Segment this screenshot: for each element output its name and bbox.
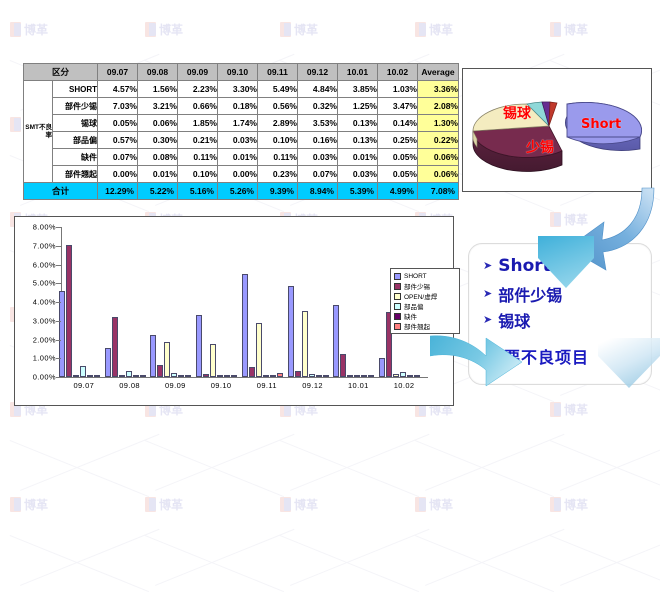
chart-y-tick-label: 6.00% — [33, 260, 56, 269]
table-cell: 0.10% — [178, 166, 218, 183]
chart-y-tick — [56, 265, 61, 266]
chart-y-tick — [56, 227, 61, 228]
chart-y-tick — [56, 340, 61, 341]
chart-bar — [164, 342, 170, 377]
callout-bullet-label: 部件少锡 — [498, 282, 562, 306]
table-cell: 0.13% — [338, 132, 378, 149]
pie-label-short: Short — [581, 117, 621, 132]
table-total-average: 7.08% — [418, 183, 459, 200]
callout-bullet: ➤部件少锡 — [483, 282, 562, 306]
chart-bar — [400, 372, 406, 377]
chart-bar — [323, 375, 329, 377]
watermark-text: 博革 — [564, 499, 588, 511]
chart-bar — [263, 375, 269, 377]
table-cell-average: 3.36% — [418, 81, 459, 98]
table-cell: 0.01% — [338, 149, 378, 166]
table-row: 缺件0.07%0.08%0.11%0.01%0.11%0.03%0.01%0.0… — [24, 149, 459, 166]
watermark-hairline — [290, 529, 429, 586]
table-cell: 3.47% — [378, 98, 418, 115]
watermark: 博革 — [10, 497, 48, 512]
chart-bar — [309, 374, 315, 377]
watermark-hairline — [10, 535, 149, 592]
table-cell: 0.56% — [258, 98, 298, 115]
callout-bullet: ➤Short — [483, 256, 551, 276]
table-row-label: 锡球 — [53, 115, 98, 132]
legend-swatch-icon — [394, 283, 401, 290]
chart-bar — [150, 335, 156, 377]
table-cell-average: 2.08% — [418, 98, 459, 115]
table-row: SMT不良率SHORT4.57%1.56%2.23%3.30%5.49%4.84… — [24, 81, 459, 98]
chart-y-tick-label: 7.00% — [33, 241, 56, 250]
legend-label: 部件少锡 — [404, 281, 430, 291]
table-row: 部件少锡7.03%3.21%0.66%0.18%0.56%0.32%1.25%3… — [24, 98, 459, 115]
chart-bar-group — [196, 227, 237, 377]
table-row-label: 缺件 — [53, 149, 98, 166]
pie-chart-panel: Short 少锡 锡球 — [462, 68, 652, 192]
watermark-hairline — [560, 434, 660, 491]
table-cell-average: 0.06% — [418, 149, 459, 166]
chart-bar — [231, 375, 237, 377]
table-cell: 2.23% — [178, 81, 218, 98]
table-total-cell: 12.29% — [98, 183, 138, 200]
chart-bar-group — [150, 227, 191, 377]
legend-swatch-icon — [394, 313, 401, 320]
table-cell: 3.30% — [218, 81, 258, 98]
table-col-header: 09.10 — [218, 64, 258, 81]
chart-bar — [133, 375, 139, 377]
watermark-hairline — [280, 440, 419, 497]
watermark-text: 博革 — [159, 24, 183, 36]
legend-item: 缺件 — [394, 311, 456, 321]
table-cell: 2.89% — [258, 115, 298, 132]
table-cell: 0.11% — [258, 149, 298, 166]
chart-bar — [126, 371, 132, 377]
table-total-cell: 5.16% — [178, 183, 218, 200]
chart-bar — [277, 373, 283, 377]
chart-bar-group — [59, 227, 100, 377]
defect-rate-table: 区分 09.0709.0809.0909.1009.1109.1210.0110… — [23, 63, 459, 200]
table-cell: 0.07% — [98, 149, 138, 166]
watermark-text: 博革 — [429, 499, 453, 511]
watermark: 博革 — [10, 22, 48, 37]
chart-bar — [407, 375, 413, 377]
chart-bar — [196, 315, 202, 377]
chevron-right-icon: ➤ — [483, 261, 492, 272]
watermark-text: 博革 — [564, 404, 588, 416]
table-cell: 0.13% — [338, 115, 378, 132]
legend-item: OPEN/虚焊 — [394, 291, 456, 301]
legend-label: OPEN/虚焊 — [404, 291, 437, 301]
table-cell: 0.23% — [258, 166, 298, 183]
chart-x-tick-label: 10.01 — [348, 381, 369, 390]
table-cell: 0.05% — [98, 115, 138, 132]
watermark: 博革 — [415, 497, 453, 512]
table-cell: 0.30% — [138, 132, 178, 149]
callout-bullet-label: Short — [498, 256, 551, 276]
table-body: SMT不良率SHORT4.57%1.56%2.23%3.30%5.49%4.84… — [24, 81, 459, 200]
bg-logo-icon — [10, 117, 21, 132]
chart-bar — [249, 367, 255, 378]
legend-item: 部件少锡 — [394, 281, 456, 291]
chart-bar — [393, 374, 399, 377]
chart-x-tick-label: 09.09 — [165, 381, 186, 390]
table-cell: 0.14% — [378, 115, 418, 132]
pie-label-shaoxi: 少锡 — [526, 137, 554, 157]
watermark-text: 博革 — [429, 24, 453, 36]
chart-y-tick-label: 5.00% — [33, 279, 56, 288]
table-cell: 0.01% — [138, 166, 178, 183]
chart-bar — [87, 375, 93, 377]
chart-bar — [178, 375, 184, 377]
table-col-header: 09.09 — [178, 64, 218, 81]
chart-bar — [224, 375, 230, 377]
bg-logo-icon — [550, 402, 561, 417]
chart-bar — [368, 375, 374, 377]
table-cell: 3.21% — [138, 98, 178, 115]
table-total-cell: 9.39% — [258, 183, 298, 200]
table-cell: 0.01% — [218, 149, 258, 166]
chart-bar — [185, 375, 191, 377]
table-cell-average: 0.06% — [418, 166, 459, 183]
watermark-text: 博革 — [24, 499, 48, 511]
chart-bar — [119, 375, 125, 377]
table-cell: 0.05% — [378, 166, 418, 183]
callout-bullet-label: 锡球 — [498, 308, 530, 332]
table-cell: 0.18% — [218, 98, 258, 115]
table-cell: 0.57% — [98, 132, 138, 149]
watermark-hairline — [425, 434, 564, 491]
table-cell: 1.74% — [218, 115, 258, 132]
chart-bar — [210, 344, 216, 377]
chart-bar — [288, 286, 294, 377]
watermark: 博革 — [550, 212, 588, 227]
bg-logo-icon — [145, 22, 156, 37]
chevron-right-icon: ➤ — [483, 315, 492, 326]
legend-label: 缺件 — [404, 311, 417, 321]
chart-bar — [73, 375, 79, 377]
table-cell: 4.84% — [298, 81, 338, 98]
watermark-text: 博革 — [294, 24, 318, 36]
chart-bar — [157, 365, 163, 377]
table-col-header: 09.11 — [258, 64, 298, 81]
legend-label: SHORT — [404, 273, 427, 280]
table-cell: 0.03% — [338, 166, 378, 183]
chart-y-tick-label: 3.00% — [33, 316, 56, 325]
watermark: 博革 — [415, 22, 453, 37]
chart-x-tick-label: 09.10 — [211, 381, 232, 390]
chart-bar — [171, 373, 177, 377]
chart-bar — [80, 366, 86, 377]
watermark-text: 博革 — [294, 499, 318, 511]
table-col-header: 09.12 — [298, 64, 338, 81]
chart-bar — [270, 375, 276, 377]
chart-y-tick-label: 8.00% — [33, 223, 56, 232]
legend-swatch-icon — [394, 323, 401, 330]
watermark: 博革 — [280, 22, 318, 37]
table-cell: 0.16% — [298, 132, 338, 149]
watermark-hairline — [415, 440, 554, 497]
chart-x-tick-label: 09.07 — [73, 381, 94, 390]
chart-bar — [217, 375, 223, 377]
chart-x-tick-label: 09.11 — [257, 381, 277, 390]
chart-bar — [379, 358, 385, 377]
watermark-hairline — [290, 434, 429, 491]
chart-bar — [94, 375, 100, 377]
legend-swatch-icon — [394, 273, 401, 280]
chart-y-tick — [56, 321, 61, 322]
chart-bar — [316, 375, 322, 377]
pie-chart-graphic — [463, 69, 651, 191]
chart-bar — [112, 317, 118, 377]
table-cell: 1.56% — [138, 81, 178, 98]
legend-item: 部件翘起 — [394, 321, 456, 331]
bg-logo-icon — [280, 497, 291, 512]
chart-bar-group — [105, 227, 146, 377]
callout-conclusion: 主要不良项目 — [487, 344, 589, 368]
table-cell: 0.05% — [378, 149, 418, 166]
watermark-text: 博革 — [24, 24, 48, 36]
watermark: 博革 — [145, 497, 183, 512]
watermark-text: 博革 — [159, 499, 183, 511]
watermark-hairline — [20, 529, 159, 586]
chevron-right-icon: ➤ — [483, 289, 492, 300]
watermark-text: 博革 — [564, 24, 588, 36]
legend-swatch-icon — [394, 293, 401, 300]
table-cell-average: 0.22% — [418, 132, 459, 149]
table-cell-average: 1.30% — [418, 115, 459, 132]
watermark-text: 博革 — [564, 214, 588, 226]
bg-logo-icon — [550, 22, 561, 37]
chart-bar — [302, 311, 308, 377]
table-col-header: 09.08 — [138, 64, 178, 81]
table-cell: 3.53% — [298, 115, 338, 132]
chart-bar — [361, 375, 367, 377]
table-cell: 0.10% — [258, 132, 298, 149]
chart-legend: SHORT部件少锡OPEN/虚焊部品偏缺件部件翘起 — [390, 268, 460, 334]
chart-bar-group — [288, 227, 329, 377]
watermark-hairline — [10, 440, 149, 497]
table-cell: 0.07% — [298, 166, 338, 183]
chart-y-tick — [56, 246, 61, 247]
legend-item: SHORT — [394, 271, 456, 281]
table-col-header: Average — [418, 64, 459, 81]
table-cell: 0.03% — [218, 132, 258, 149]
table-cell: 4.57% — [98, 81, 138, 98]
bg-logo-icon — [145, 497, 156, 512]
chart-axis-line-horizontal — [61, 377, 428, 378]
table-cell: 1.25% — [338, 98, 378, 115]
watermark-hairline — [145, 440, 284, 497]
chart-bar — [347, 375, 353, 377]
watermark: 博革 — [550, 402, 588, 417]
chart-bar — [414, 375, 420, 377]
table-row: 部品偏0.57%0.30%0.21%0.03%0.10%0.16%0.13%0.… — [24, 132, 459, 149]
conclusion-callout: ➤Short➤部件少锡➤锡球 主要不良项目 — [468, 243, 652, 385]
table-cell: 0.00% — [218, 166, 258, 183]
watermark-hairline — [550, 440, 660, 497]
watermark-hairline — [20, 434, 159, 491]
legend-item: 部品偏 — [394, 301, 456, 311]
table-header-row: 区分 09.0709.0809.0909.1009.1109.1210.0110… — [24, 64, 459, 81]
chart-bar — [333, 305, 339, 377]
watermark-hairline — [415, 535, 554, 592]
table-total-row: 合计12.29%5.22%5.16%5.26%9.39%8.94%5.39%4.… — [24, 183, 459, 200]
bg-logo-icon — [10, 22, 21, 37]
table-cell: 0.00% — [98, 166, 138, 183]
chart-y-tick-label: 0.00% — [33, 373, 56, 382]
table-cell: 0.25% — [378, 132, 418, 149]
bar-chart-panel: 0.00%1.00%2.00%3.00%4.00%5.00%6.00%7.00%… — [14, 216, 454, 406]
table-cell: 7.03% — [98, 98, 138, 115]
chart-x-tick-label: 09.08 — [119, 381, 140, 390]
table-cell: 0.08% — [138, 149, 178, 166]
chart-bar-group — [242, 227, 283, 377]
table-cell: 0.21% — [178, 132, 218, 149]
legend-label: 部品偏 — [404, 301, 424, 311]
bg-logo-icon — [10, 497, 21, 512]
table-row-label: 部件少锡 — [53, 98, 98, 115]
table-cell: 0.66% — [178, 98, 218, 115]
chart-y-tick — [56, 358, 61, 359]
watermark: 博革 — [550, 22, 588, 37]
chart-bar — [140, 375, 146, 377]
watermark: 博革 — [145, 22, 183, 37]
legend-swatch-icon — [394, 303, 401, 310]
table-side-label: SMT不良率 — [24, 81, 53, 183]
table-total-cell: 5.22% — [138, 183, 178, 200]
chart-y-tick-label: 4.00% — [33, 298, 56, 307]
table-cell: 0.06% — [138, 115, 178, 132]
table-cell: 3.85% — [338, 81, 378, 98]
table-cell: 5.49% — [258, 81, 298, 98]
chart-bar — [203, 374, 209, 377]
bg-logo-icon — [415, 22, 426, 37]
bg-logo-icon — [550, 497, 561, 512]
pie-label-xiqiu: 锡球 — [503, 103, 531, 123]
bg-logo-icon — [415, 497, 426, 512]
chart-plot-area — [61, 227, 427, 377]
chart-y-tick-label: 2.00% — [33, 335, 56, 344]
chart-y-tick — [56, 302, 61, 303]
table-total-cell: 5.26% — [218, 183, 258, 200]
table-total-cell: 5.39% — [338, 183, 378, 200]
table-row-label: SHORT — [53, 81, 98, 98]
bg-logo-icon — [550, 212, 561, 227]
callout-bullet: ➤锡球 — [483, 308, 530, 332]
chart-bar — [256, 323, 262, 377]
table-cell: 0.32% — [298, 98, 338, 115]
chart-bar — [59, 291, 65, 377]
chart-bar — [105, 348, 111, 377]
chart-y-tick — [56, 377, 61, 378]
table-cell: 1.85% — [178, 115, 218, 132]
watermark-hairline — [560, 529, 660, 586]
table-total-cell: 4.99% — [378, 183, 418, 200]
watermark: 博革 — [550, 497, 588, 512]
table-row: 锡球0.05%0.06%1.85%1.74%2.89%3.53%0.13%0.1… — [24, 115, 459, 132]
table-cell: 1.03% — [378, 81, 418, 98]
table-total-cell: 8.94% — [298, 183, 338, 200]
watermark-hairline — [550, 535, 660, 592]
watermark-hairline — [155, 529, 294, 586]
chart-bar — [66, 245, 72, 377]
watermark: 博革 — [280, 497, 318, 512]
table-cell: 0.11% — [178, 149, 218, 166]
watermark-hairline — [280, 535, 419, 592]
table-corner-label: 区分 — [24, 64, 98, 81]
table-cell: 0.03% — [298, 149, 338, 166]
legend-label: 部件翘起 — [404, 321, 430, 331]
table-row: 部件翘起0.00%0.01%0.10%0.00%0.23%0.07%0.03%0… — [24, 166, 459, 183]
table-total-label: 合计 — [24, 183, 98, 200]
table-col-header: 10.01 — [338, 64, 378, 81]
chart-y-axis: 0.00%1.00%2.00%3.00%4.00%5.00%6.00%7.00%… — [15, 227, 59, 377]
table-col-header: 10.02 — [378, 64, 418, 81]
watermark-hairline — [425, 529, 564, 586]
chart-bar-group — [333, 227, 374, 377]
table-col-header: 09.07 — [98, 64, 138, 81]
chart-bar — [295, 371, 301, 377]
chart-bar — [354, 375, 360, 377]
bg-logo-icon — [280, 22, 291, 37]
table-row-label: 部品偏 — [53, 132, 98, 149]
chart-x-tick-label: 09.12 — [302, 381, 323, 390]
chart-bar — [242, 274, 248, 377]
chart-bar — [340, 354, 346, 377]
watermark-hairline — [155, 434, 294, 491]
watermark-hairline — [145, 535, 284, 592]
table-row-label: 部件翘起 — [53, 166, 98, 183]
chart-y-tick-label: 1.00% — [33, 354, 56, 363]
chart-x-tick-label: 10.02 — [394, 381, 415, 390]
chart-y-tick — [56, 283, 61, 284]
